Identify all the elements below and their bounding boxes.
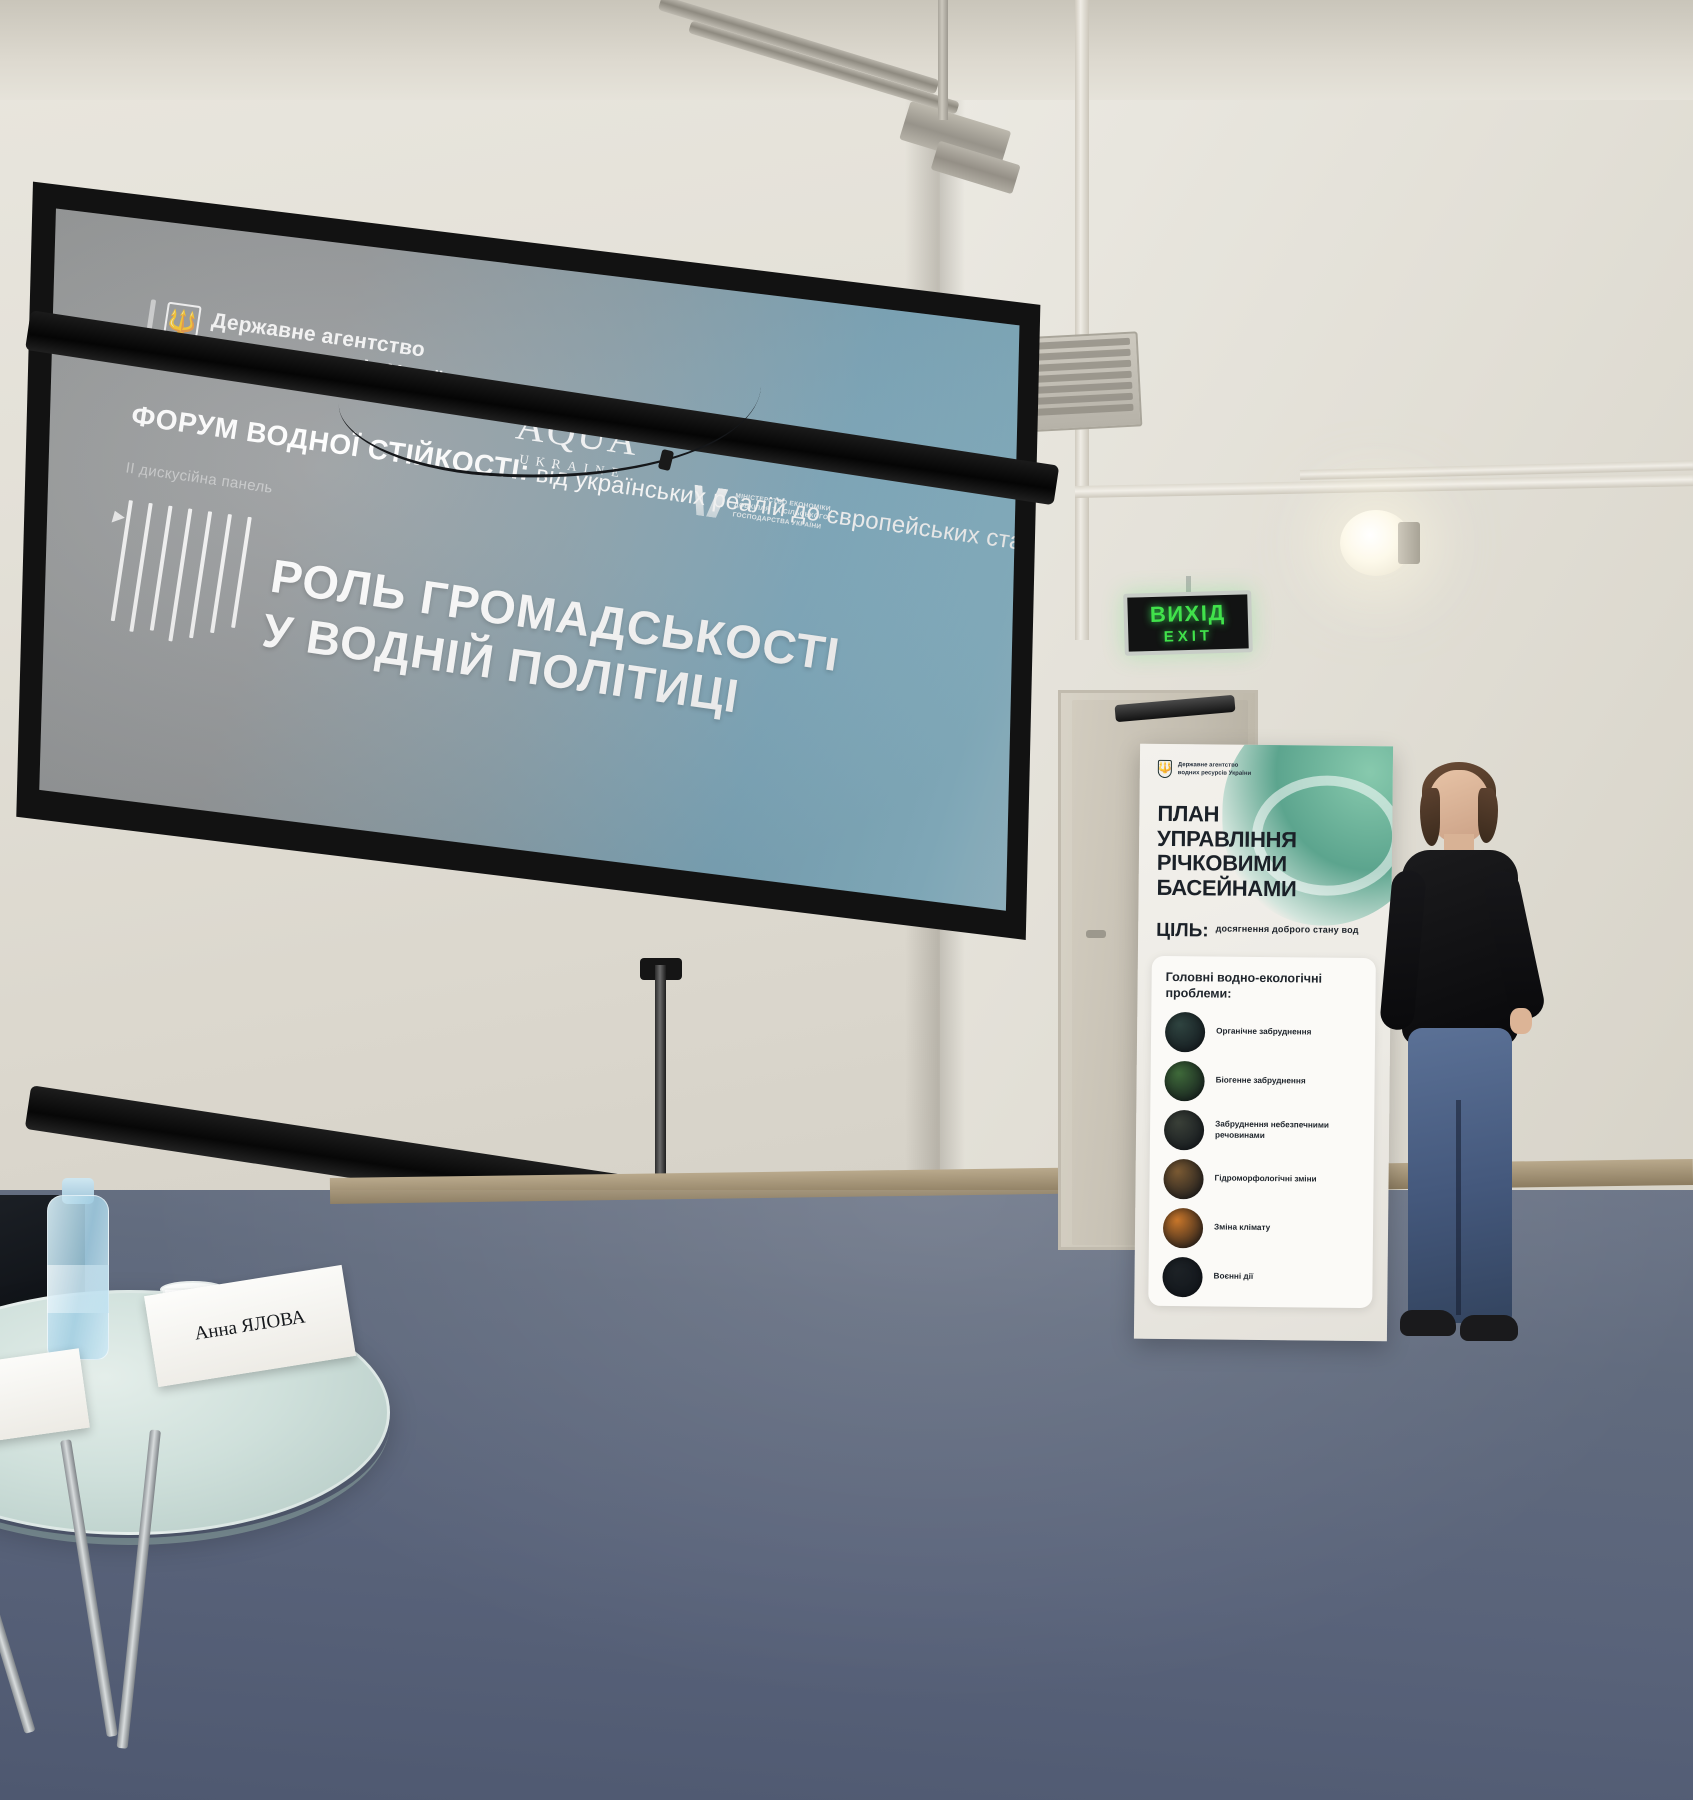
- slide-ministry-logo: МІНІСТЕРСТВО ЕКОНОМІКИ, ДОВКІЛЛЯ ТА СІЛЬ…: [690, 485, 840, 535]
- person-hair-right: [1478, 788, 1498, 843]
- banner-goal: ЦІЛЬ: досягнення доброго стану вод: [1156, 921, 1359, 942]
- banner-problem-icon: [1163, 1207, 1203, 1247]
- banner-problem-label: Гідроморфологічні зміни: [1215, 1174, 1317, 1186]
- ukraine-trident-icon: [1158, 760, 1172, 778]
- slide-panel-label: II дискусійна панель: [124, 459, 273, 496]
- banner-problem-icon: [1163, 1158, 1203, 1198]
- banner-problem-icon: [1164, 1060, 1204, 1100]
- banner-goal-text: досягнення доброго стану вод: [1216, 921, 1359, 936]
- projection-screen: Державне агентство водних ресурсів Украї…: [10, 150, 1070, 990]
- slide-main-title: РОЛЬ ГРОМАДСЬКОСТІ У ВОДНІЙ ПОЛІТИЦІ: [259, 549, 909, 746]
- banner-problem-icon: [1165, 1011, 1205, 1051]
- exit-sign-label-en: EXIT: [1163, 628, 1213, 644]
- banner-problem-item: Гідроморфологічні зміни: [1163, 1158, 1361, 1200]
- banner-problem-label: Біогенне забруднення: [1216, 1076, 1306, 1088]
- person-hair-left: [1420, 788, 1440, 846]
- banner-problem-item: Воєнні дії: [1162, 1256, 1360, 1298]
- wall-lamp-base: [1398, 522, 1420, 564]
- room-scene: Державне агентство водних ресурсів Украї…: [0, 0, 1693, 1800]
- banner-problem-label: Воєнні дії: [1213, 1272, 1253, 1283]
- banner-title: ПЛАН УПРАВЛІННЯ РІЧКОВИМИ БАСЕЙНАМИ: [1156, 802, 1357, 903]
- banner-problem-item: Органічне забруднення: [1165, 1011, 1363, 1053]
- banner-agency-line-2: водних ресурсів України: [1178, 769, 1251, 778]
- banner-problem-label: Зміна клімату: [1214, 1223, 1270, 1234]
- wall-trim-vertical: [1075, 0, 1089, 640]
- water-bottle-label: [47, 1265, 109, 1313]
- banner-problems-list: Органічне забрудненняБіогенне забрудненн…: [1162, 1011, 1363, 1298]
- banner-problem-label: Органічне забруднення: [1216, 1027, 1311, 1039]
- banner-goal-label: ЦІЛЬ:: [1156, 921, 1209, 941]
- banner-problem-label: Забруднення небезпечними речовинами: [1215, 1119, 1362, 1142]
- slide-bar-decoration: [109, 500, 252, 650]
- exit-sign-label-uk: ВИХІД: [1150, 601, 1226, 625]
- ceiling: [0, 0, 1693, 100]
- banner-problems-card: Головні водно-екологічні проблеми: Орган…: [1148, 956, 1376, 1308]
- mouse-cursor-icon: [108, 508, 125, 522]
- banner-agency-logo-text: Державне агентство водних ресурсів Украї…: [1178, 761, 1252, 778]
- slide-title-line-2: У ВОДНІЙ ПОЛІТИЦІ: [259, 603, 901, 746]
- rollup-banner: Державне агентство водних ресурсів Украї…: [1134, 744, 1393, 1342]
- banner-problem-icon: [1164, 1109, 1204, 1149]
- person-jeans-seam: [1456, 1100, 1461, 1315]
- namecard-primary-text: Анна ЯЛОВА: [193, 1306, 307, 1345]
- slide-title-line-1: РОЛЬ ГРОМАДСЬКОСТІ: [267, 549, 909, 692]
- person-shoe-right: [1460, 1315, 1518, 1341]
- banner-agency-logo: Державне агентство водних ресурсів Украї…: [1158, 760, 1252, 779]
- person-shoe-left: [1400, 1310, 1456, 1336]
- door-handle[interactable]: [1086, 930, 1106, 938]
- person-hand: [1510, 1008, 1532, 1034]
- presenter-person: [1382, 770, 1532, 1380]
- ministry-m-mark-icon: [690, 485, 728, 519]
- banner-problem-icon: [1162, 1256, 1202, 1296]
- pipe-downspout: [938, 0, 948, 120]
- exit-sign: ВИХІД EXIT: [1123, 590, 1253, 656]
- banner-problem-item: Біогенне забруднення: [1164, 1060, 1362, 1102]
- banner-problems-heading: Головні водно-екологічні проблеми:: [1165, 970, 1363, 1004]
- ministry-logo-text: МІНІСТЕРСТВО ЕКОНОМІКИ, ДОВКІЛЛЯ ТА СІЛЬ…: [732, 491, 840, 534]
- banner-problem-item: Зміна клімату: [1163, 1207, 1361, 1249]
- banner-problem-item: Забруднення небезпечними речовинами: [1164, 1109, 1362, 1151]
